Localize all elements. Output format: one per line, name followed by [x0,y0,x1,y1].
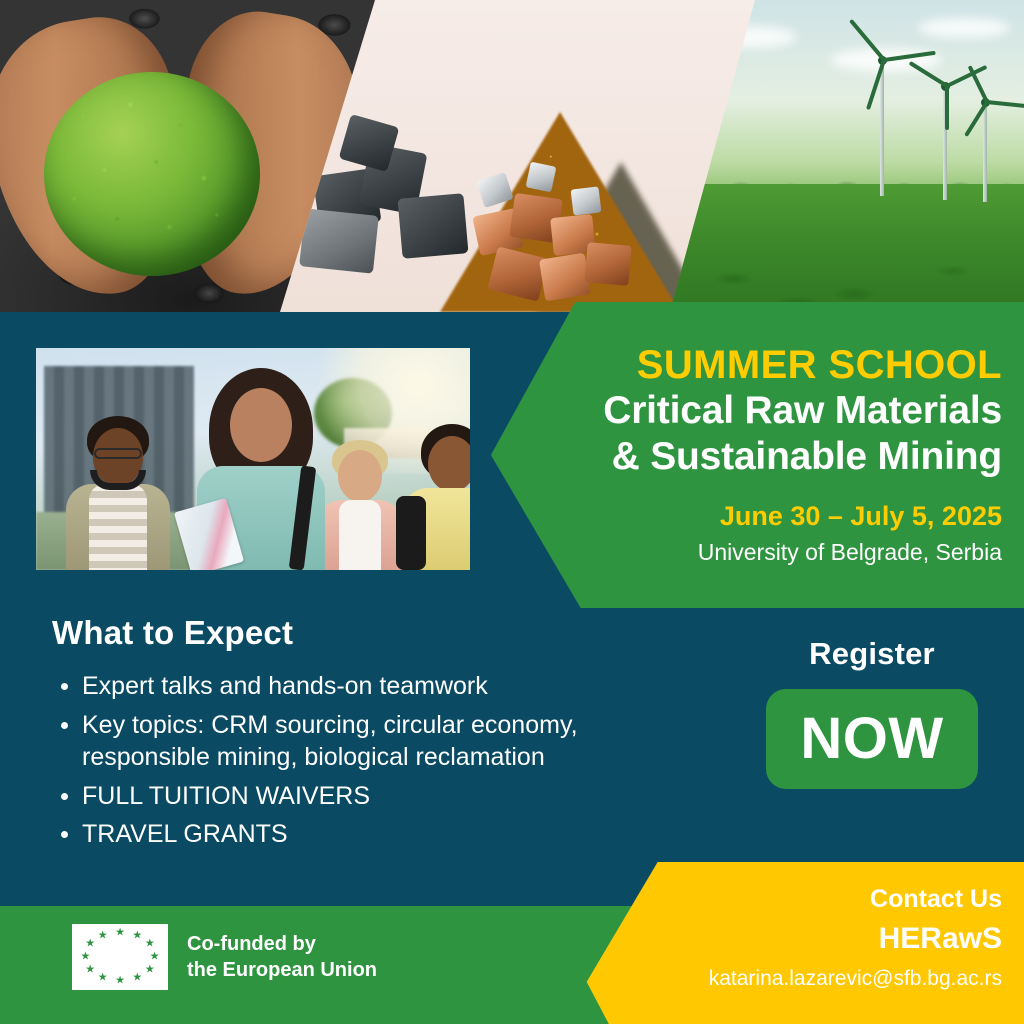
eu-star: ★ [81,952,91,963]
list-item: FULL TUITION WAIVERS [52,780,712,813]
eu-star: ★ [145,939,155,950]
eu-star: ★ [85,939,95,950]
photo-strip [0,0,1024,312]
eu-funding-logo: ★ ★ ★ ★ ★ ★ ★ ★ ★ ★ ★ ★ Co-funded by the… [72,924,377,990]
what-to-expect-heading: What to Expect [52,614,712,652]
turbine-mast [983,98,987,202]
list-item: Key topics: CRM sourcing, circular econo… [52,709,712,774]
european-union-flag-icon: ★ ★ ★ ★ ★ ★ ★ ★ ★ ★ ★ ★ [72,924,168,990]
black-rock [398,193,469,259]
poster-canvas: SUMMER SCHOOL Critical Raw Materials & S… [0,0,1024,1024]
summer-school-banner: SUMMER SCHOOL Critical Raw Materials & S… [480,302,1024,608]
event-dates: June 30 – July 5, 2025 [720,500,1002,532]
backpack [396,496,426,570]
turbine-blade [987,100,1024,108]
wind-turbine [962,98,1008,202]
face [230,388,292,462]
student-main [186,374,336,570]
register-now-button[interactable]: NOW [766,689,978,789]
student-left [62,418,174,570]
grey-rock [299,208,379,273]
turbine-blade [946,65,987,88]
banner-title-line2: & Sustainable Mining [612,434,1002,480]
green-field [670,184,1024,312]
register-label: Register [766,636,978,672]
contact-text-block: Contact Us HERawS katarina.lazarevic@sfb… [709,884,1002,991]
list-item: Expert talks and hands-on teamwork [52,670,712,703]
eu-funding-text: Co-funded by the European Union [187,931,377,983]
what-to-expect-section: What to Expect Expert talks and hands-on… [52,614,712,857]
contact-us-heading: Contact Us [709,884,1002,914]
eu-star: ★ [132,972,142,983]
eu-star: ★ [132,931,142,942]
copper-crystal [539,253,591,302]
register-section: Register NOW [766,636,978,789]
project-name: HERawS [709,921,1002,957]
silver-crystal [526,162,557,193]
banner-text-block: SUMMER SCHOOL Critical Raw Materials & S… [575,302,1002,608]
eu-star: ★ [85,964,95,975]
copper-crystal [584,242,631,286]
eu-star: ★ [115,975,125,986]
banner-kicker: SUMMER SCHOOL [637,344,1002,386]
eu-star: ★ [150,952,160,963]
striped-shirt [89,484,147,570]
expect-bullet-list: Expert talks and hands-on teamwork Key t… [52,670,712,851]
eu-star: ★ [115,928,125,939]
eu-star: ★ [145,964,155,975]
contact-banner: Contact Us HERawS katarina.lazarevic@sfb… [580,862,1024,1024]
smiling-students-photo [36,348,470,570]
contact-email[interactable]: katarina.lazarevic@sfb.bg.ac.rs [709,966,1002,991]
cloud [918,18,1010,38]
glasses [94,448,142,459]
silver-crystal [571,186,602,215]
moss-ball [44,72,260,276]
face [428,436,470,492]
event-venue: University of Belgrade, Serbia [698,539,1002,567]
list-item: TRAVEL GRANTS [52,818,712,851]
shirt [339,500,381,570]
eu-star: ★ [98,931,108,942]
student-right [400,426,470,570]
banner-title-line1: Critical Raw Materials [603,388,1002,434]
eu-star: ★ [98,972,108,983]
turbine-mast [880,56,884,196]
face [338,450,382,502]
wind-turbine [852,56,912,196]
turbine-blade [945,86,949,130]
